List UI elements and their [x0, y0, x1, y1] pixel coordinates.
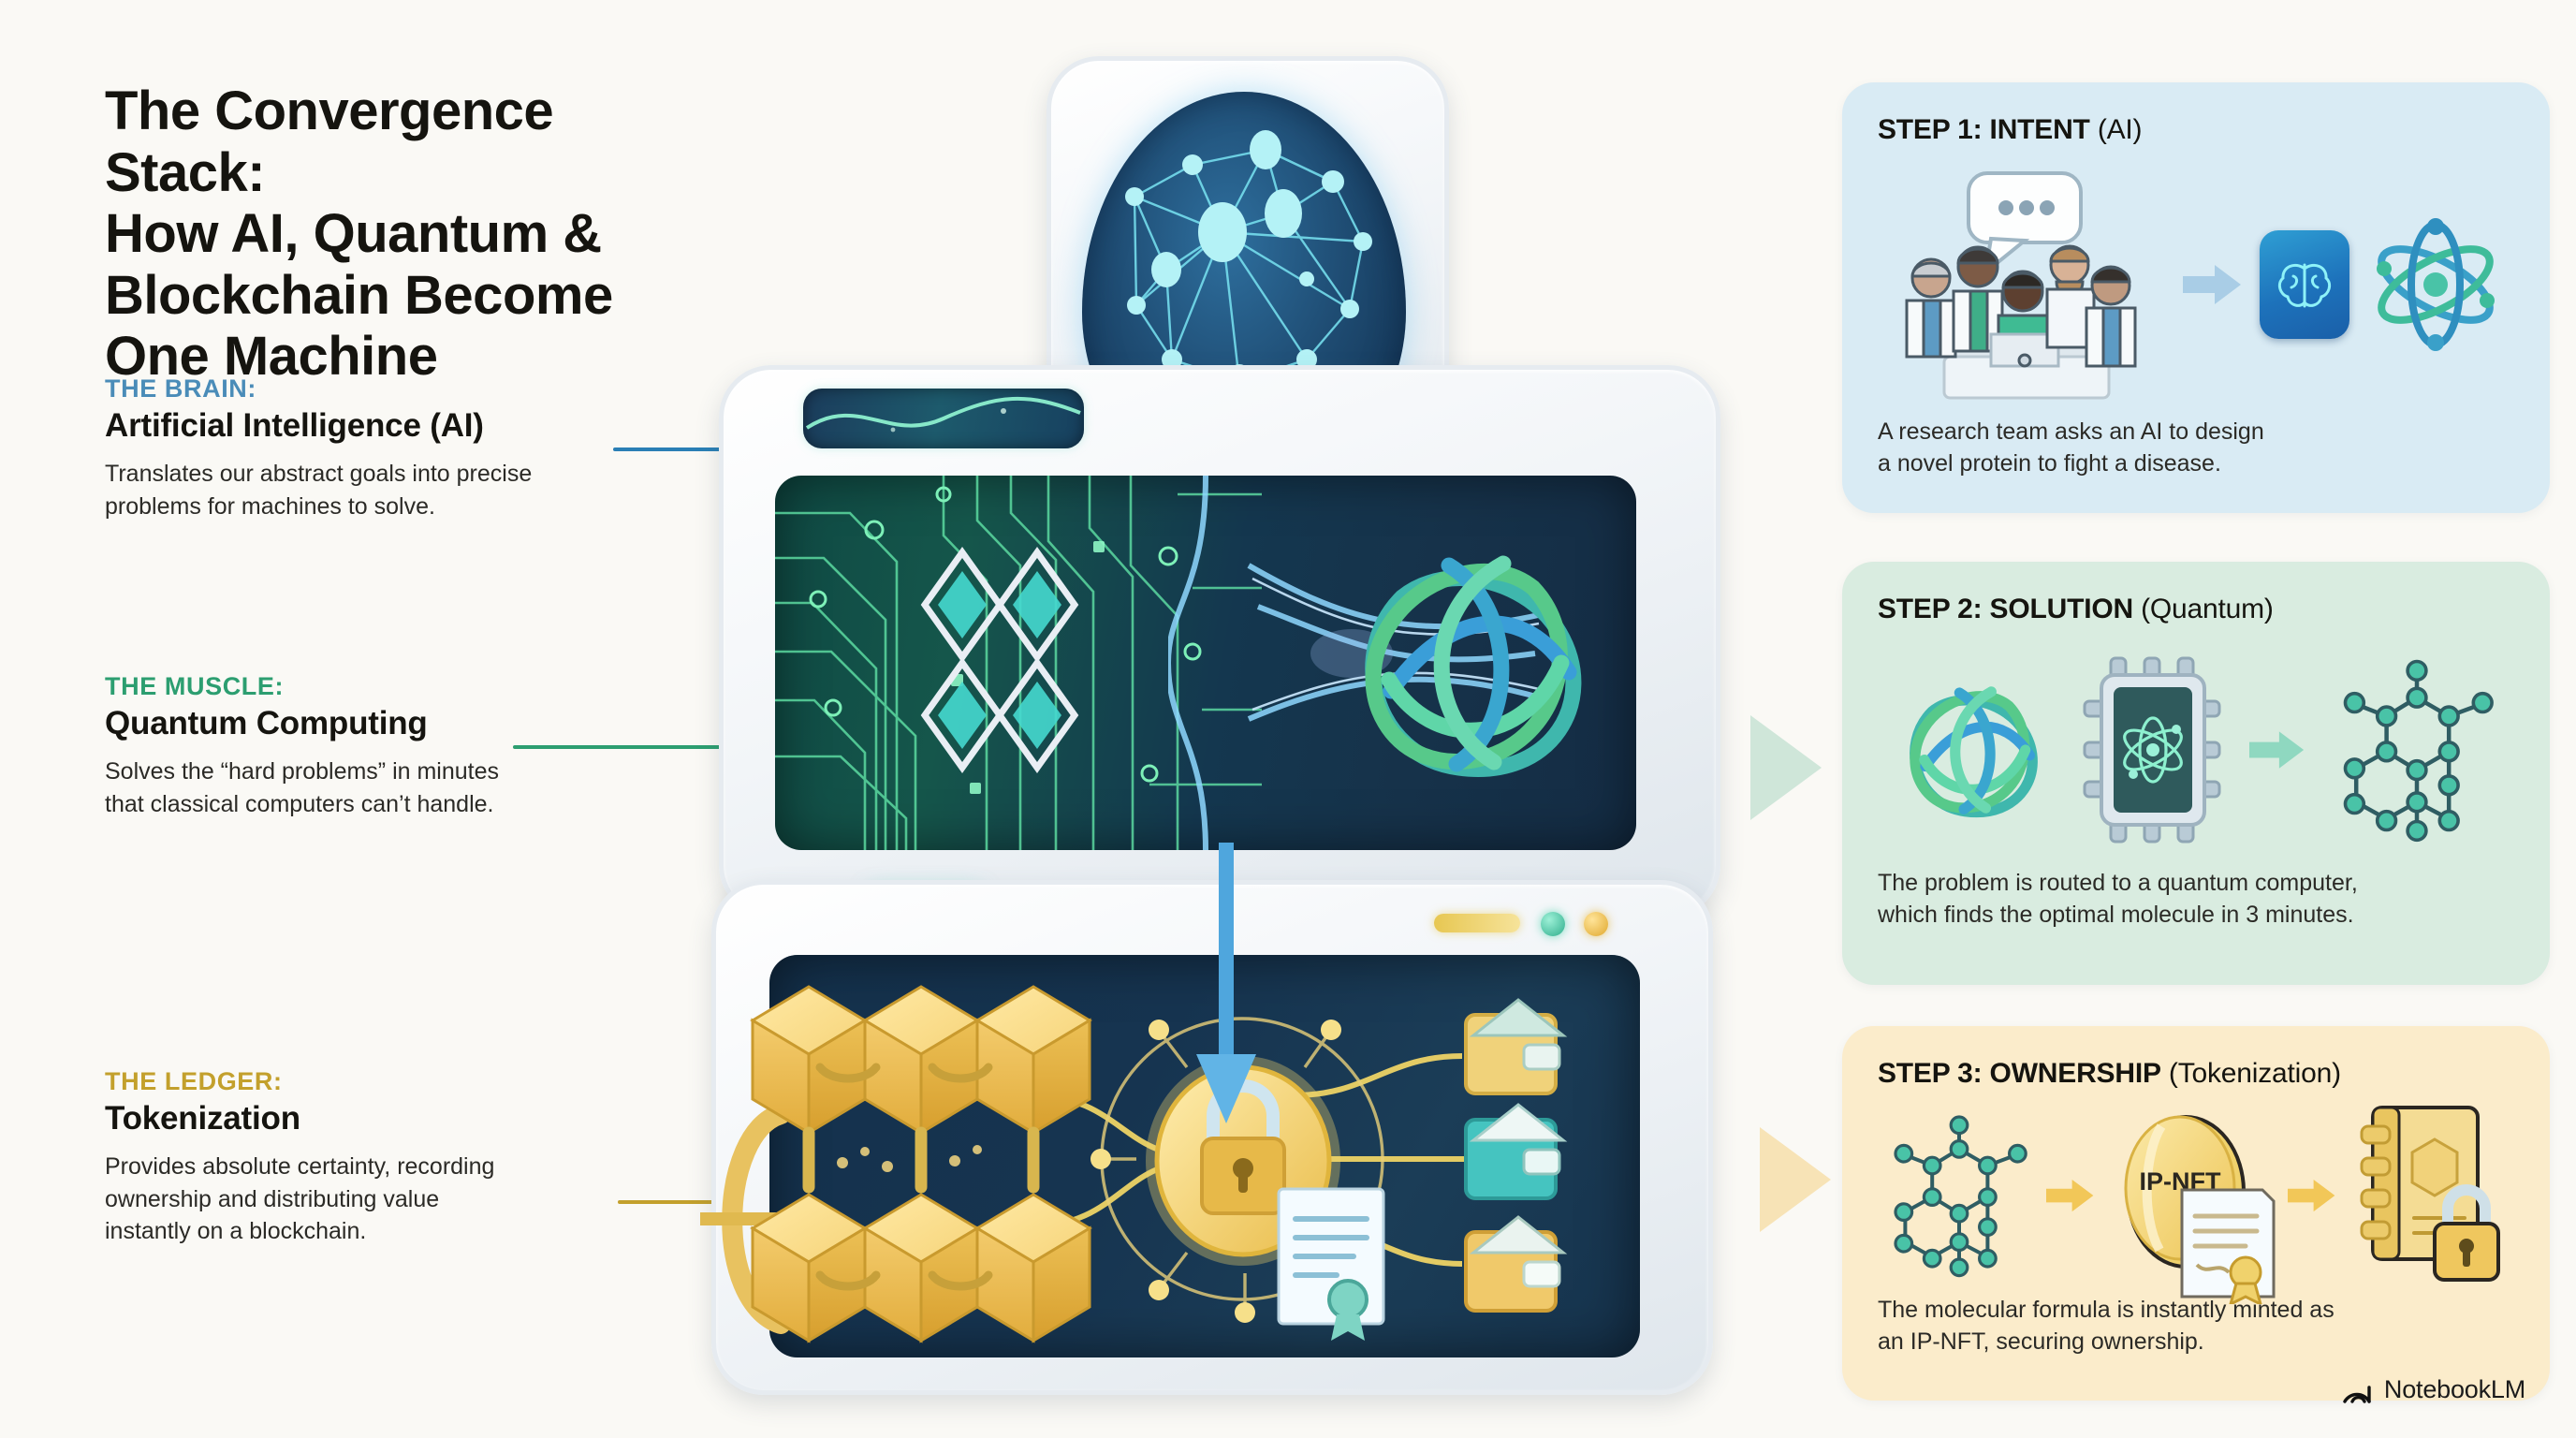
status-led-green: [1541, 912, 1565, 936]
layer-kicker-brain: THE BRAIN:: [105, 374, 685, 404]
atom-icon: [2365, 214, 2506, 355]
step-1-title: STEP 1: INTENT (AI): [1878, 114, 2514, 146]
layer-title-ledger: Tokenization: [105, 1100, 685, 1137]
pointer-arrow-step3: [1760, 1127, 1831, 1232]
page-title: The Convergence Stack: How AI, Quantum &…: [105, 81, 704, 388]
step-3-artwork: IP-NFT: [1878, 1097, 2514, 1294]
waveform-display: [803, 389, 1084, 448]
layer-body-ledger: Provides absolute certainty, recording o…: [105, 1151, 685, 1248]
layer-body-muscle: Solves the “hard problems” in minutes th…: [105, 756, 685, 820]
convergence-machine-illustration: [711, 56, 1797, 1386]
arrow-right-icon: [2288, 1177, 2336, 1214]
left-column: The Convergence Stack: How AI, Quantum &…: [105, 81, 704, 393]
status-bar-led: [1434, 914, 1520, 932]
step-3-label: STEP 3: OWNERSHIP: [1878, 1058, 2161, 1089]
molecule-icon: [2333, 656, 2501, 844]
notebooklm-logo-icon: [2341, 1376, 2373, 1404]
arrow-right-icon: [2046, 1177, 2095, 1214]
molecule-icon: [1884, 1108, 2034, 1283]
downward-data-flow-arrow: [1189, 843, 1264, 1133]
ip-nft-coin-icon: IP-NFT: [2107, 1102, 2276, 1289]
layer-block-brain: THE BRAIN: Artificial Intelligence (AI) …: [105, 374, 685, 522]
step-2-title: STEP 2: SOLUTION (Quantum): [1878, 594, 2514, 625]
infographic-canvas: The Convergence Stack: How AI, Quantum &…: [0, 0, 2576, 1438]
layer-title-brain: Artificial Intelligence (AI): [105, 407, 685, 445]
wallet-icon-3: [1466, 1217, 1563, 1311]
step-2-label: STEP 2: SOLUTION: [1878, 594, 2133, 624]
blockchain-cube-icon: [700, 946, 1121, 1386]
pointer-arrow-step2: [1750, 715, 1822, 820]
wallet-icon-2: [1466, 1105, 1563, 1198]
layer-title-muscle: Quantum Computing: [105, 705, 685, 742]
ai-brain-chip-icon: [2260, 230, 2349, 339]
ledger-book-icon: [2349, 1102, 2508, 1289]
arrow-right-icon: [2183, 263, 2243, 306]
padlock-icon: [2425, 1182, 2508, 1284]
arrow-right-icon: [2249, 729, 2305, 770]
quantum-knot-icon: [1337, 522, 1608, 803]
certificate-icon: [1279, 1189, 1383, 1341]
step-panel-2[interactable]: STEP 2: SOLUTION (Quantum): [1842, 562, 2550, 985]
quantum-processor-icon: [2083, 656, 2223, 844]
quantum-core-display: [775, 476, 1636, 850]
step-2-qualifier: (Quantum): [2133, 594, 2274, 624]
research-team-icon: [1886, 168, 2167, 402]
step-panel-3[interactable]: STEP 3: OWNERSHIP (Tokenization): [1842, 1026, 2550, 1401]
layer-block-ledger: THE LEDGER: Tokenization Provides absolu…: [105, 1067, 685, 1248]
step-3-title: STEP 3: OWNERSHIP (Tokenization): [1878, 1058, 2514, 1090]
layer-kicker-muscle: THE MUSCLE:: [105, 672, 685, 701]
step-3-qualifier: (Tokenization): [2161, 1058, 2341, 1089]
step-1-qualifier: (AI): [2090, 114, 2143, 145]
layer-kicker-ledger: THE LEDGER:: [105, 1067, 685, 1096]
layer-body-brain: Translates our abstract goals into preci…: [105, 458, 685, 522]
certificate-icon: [2176, 1184, 2279, 1304]
step-1-body: A research team asks an AI to design a n…: [1878, 416, 2514, 479]
step-1-artwork: [1878, 154, 2514, 416]
step-2-artwork: [1878, 633, 2514, 867]
notebooklm-label: NotebookLM: [2384, 1375, 2525, 1404]
notebooklm-watermark: NotebookLM: [2341, 1375, 2525, 1404]
quantum-knot-icon: [1891, 668, 2056, 832]
wallet-icon-1: [1466, 1000, 1563, 1093]
step-1-label: STEP 1: INTENT: [1878, 114, 2090, 145]
status-led-amber: [1584, 912, 1608, 936]
step-panel-1[interactable]: STEP 1: INTENT (AI): [1842, 82, 2550, 513]
step-2-body: The problem is routed to a quantum compu…: [1878, 867, 2514, 931]
qubit-emblem-icon: [906, 543, 1093, 786]
